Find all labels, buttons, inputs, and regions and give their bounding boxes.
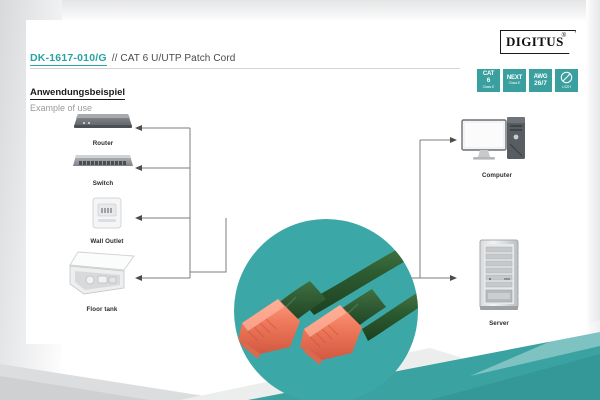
header-title-row: DK-1617-010/G// CAT 6 U/UTP Patch Cord [30,48,470,66]
next-badge-line1: NEXT [507,75,522,81]
device-computer: Computer [460,114,534,179]
patch-cord-illustration [234,219,418,400]
product-description: // CAT 6 U/UTP Patch Cord [112,53,236,64]
floor-tank-label: Floor tank [62,306,142,313]
switch-icon [70,150,136,172]
product-image-disc [234,219,418,400]
logo-wordmark: DIGITUS [506,34,564,50]
certification-badge-row: CAT 6 Class E NEXT Class E AWG 26/7 LSZH [477,69,578,92]
header-divider [30,68,460,69]
server-label: Server [474,320,524,327]
cat6-badge: CAT 6 Class E [477,69,500,92]
wall-outlet-icon [84,196,130,230]
awg-badge: AWG 26/7 [529,69,552,92]
server-icon [474,238,524,312]
halogen-free-badge-line3: LSZH [562,86,571,90]
digitus-logo: DIGITUS ® [500,30,576,54]
top-gradient-band [0,0,600,22]
section-title-de: Anwendungsbeispiel [30,87,125,100]
next-badge-line3: Class E [509,82,521,86]
next-badge: NEXT Class E [503,69,526,92]
no-halogen-icon [560,71,573,84]
datasheet-page: DK-1617-010/G// CAT 6 U/UTP Patch Cord D… [0,0,600,400]
awg-badge-line2: 26/7 [534,81,547,88]
device-wall-outlet: Wall Outlet [84,196,130,245]
application-diagram: Router Sw [26,100,581,335]
router-label: Router [70,140,136,147]
computer-label: Computer [460,172,534,179]
device-floor-tank: Floor tank [62,250,142,313]
device-switch: Switch [70,150,136,187]
cat6-badge-line2: 6 [487,78,491,85]
device-server: Server [474,238,524,327]
halogen-free-badge: LSZH [555,69,578,92]
switch-label: Switch [70,180,136,187]
wall-outlet-label: Wall Outlet [84,238,130,245]
router-icon [70,108,136,132]
registered-trademark-icon: ® [562,33,566,39]
device-router: Router [70,108,136,147]
awg-badge-line1: AWG [534,74,548,80]
floor-tank-icon [62,250,142,298]
computer-icon [460,114,534,164]
cat6-badge-line3: Class E [483,86,495,90]
product-sku: DK-1617-010/G [30,52,107,66]
